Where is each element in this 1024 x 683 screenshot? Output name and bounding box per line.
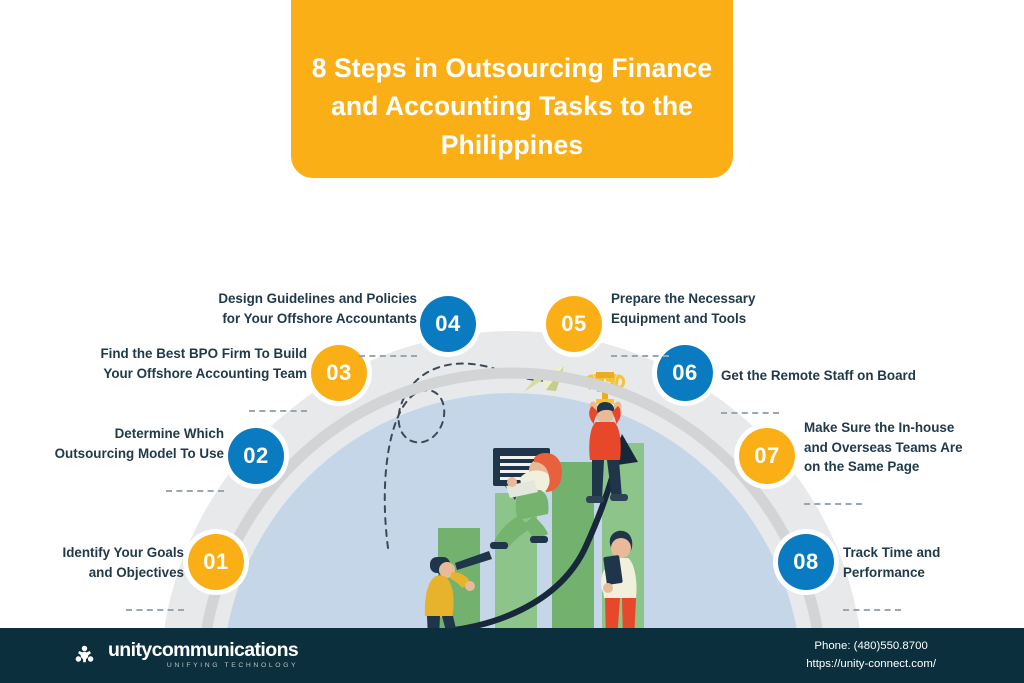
- step-label-01: Identify Your Goals and Objectives: [18, 524, 184, 630]
- page-title: 8 Steps in Outsourcing Finance and Accou…: [291, 49, 733, 164]
- unity-people-star-icon: [70, 641, 99, 670]
- step-number-02: 02: [243, 443, 268, 469]
- trophy-icon: [586, 372, 623, 404]
- step-label-05-divider: [611, 355, 669, 357]
- step-label-06-divider: [721, 412, 779, 414]
- tablet-icon: [603, 555, 623, 585]
- step-label-01-divider: [126, 609, 184, 611]
- laptop-icon: [506, 480, 538, 498]
- step-node-01[interactable]: 01: [188, 534, 244, 590]
- step-label-04-text: Design Guidelines and Policies for Your …: [145, 289, 417, 328]
- brand-tagline: UNIFYING TECHNOLOGY: [108, 663, 298, 670]
- step-label-08-text: Track Time and Performance: [843, 543, 1023, 582]
- brand-logo[interactable]: unitycommunications UNIFYING TECHNOLOGY: [70, 641, 298, 670]
- step-label-04: Design Guidelines and Policies for Your …: [145, 270, 417, 376]
- step-node-08[interactable]: 08: [778, 534, 834, 590]
- step-label-08: Track Time and Performance: [843, 524, 1023, 630]
- step-label-07: Make Sure the In-house and Overseas Team…: [804, 399, 1004, 525]
- infographic-canvas: 8 Steps in Outsourcing Finance and Accou…: [0, 0, 1024, 683]
- bar-4: [602, 443, 644, 638]
- step-label-04-divider: [359, 355, 417, 357]
- step-label-08-divider: [843, 609, 901, 611]
- step-number-08: 08: [793, 549, 818, 575]
- step-label-03-divider: [249, 410, 307, 412]
- step-label-07-text: Make Sure the In-house and Overseas Team…: [804, 418, 1004, 476]
- footer-website[interactable]: https://unity-connect.com/: [806, 656, 936, 673]
- step-label-02-divider: [166, 490, 224, 492]
- bar-2: [495, 493, 537, 638]
- step-label-07-divider: [804, 503, 862, 505]
- paper-plane-icon: [524, 366, 564, 392]
- step-label-01-text: Identify Your Goals and Objectives: [18, 543, 184, 582]
- telescope-icon: [455, 551, 492, 570]
- character-woman-with-laptop: [490, 453, 562, 550]
- bar-1: [438, 528, 480, 638]
- brand-name: unitycommunications: [108, 641, 298, 661]
- step-node-05[interactable]: 05: [546, 296, 602, 352]
- step-node-02[interactable]: 02: [228, 428, 284, 484]
- footer-contact: Phone: (480)550.8700 https://unity-conne…: [806, 638, 936, 672]
- footer-phone: Phone: (480)550.8700: [806, 638, 936, 655]
- arrow-head-icon: [610, 434, 638, 466]
- character-woman-with-tablet: [601, 531, 638, 644]
- step-label-06-text: Get the Remote Staff on Board: [721, 366, 971, 385]
- step-node-04[interactable]: 04: [420, 296, 476, 352]
- step-number-07: 07: [754, 443, 779, 469]
- character-man-with-trophy: [586, 372, 628, 503]
- header-banner: 8 Steps in Outsourcing Finance and Accou…: [291, 0, 733, 178]
- step-label-05-text: Prepare the Necessary Equipment and Tool…: [611, 289, 841, 328]
- bar-3: [552, 462, 594, 638]
- step-number-04: 04: [435, 311, 460, 337]
- speech-bubble-icon: [493, 448, 550, 500]
- step-number-01: 01: [203, 549, 228, 575]
- footer-bar: unitycommunications UNIFYING TECHNOLOGY …: [0, 628, 1024, 683]
- step-node-07[interactable]: 07: [739, 428, 795, 484]
- step-number-05: 05: [561, 311, 586, 337]
